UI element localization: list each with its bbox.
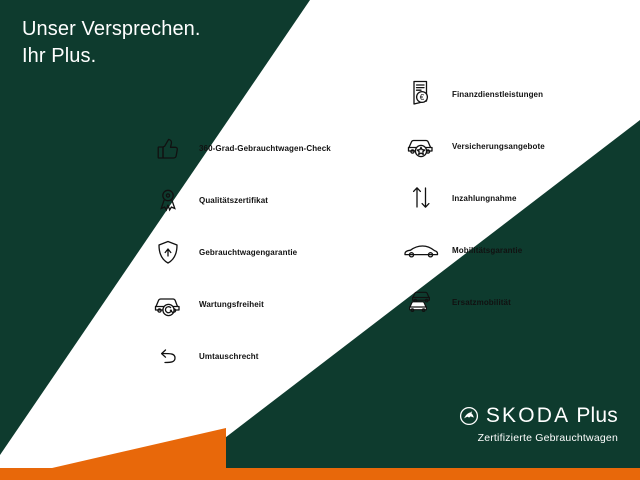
feature-label: 360-Grad-Gebrauchtwagen-Check (199, 144, 331, 153)
headline: Unser Versprechen. Ihr Plus. (22, 16, 201, 70)
orange-corner-shape (0, 428, 226, 480)
thumbs-up-icon (145, 126, 191, 170)
svg-text:€: € (420, 93, 425, 102)
car-star-icon (398, 124, 444, 168)
feature-item: Ersatzmobilität (398, 276, 545, 328)
return-arrow-icon (145, 334, 191, 378)
feature-label: Wartungsfreiheit (199, 300, 264, 309)
feature-label: Finanzdienstleistungen (452, 90, 543, 99)
feature-item: € Finanzdienstleistungen (398, 68, 545, 120)
feature-label: Inzahlungnahme (452, 194, 517, 203)
brand-name: SKODA (486, 405, 571, 426)
feature-item: Umtauschrecht (145, 330, 331, 382)
feature-label: Gebrauchtwagengarantie (199, 248, 297, 257)
brand-lockup: SKODA Plus Zertifizierte Gebrauchtwagen (459, 405, 618, 444)
brand-name-row: SKODA Plus (459, 405, 618, 426)
feature-label: Qualitätszertifikat (199, 196, 268, 205)
car-side-icon (398, 228, 444, 272)
headline-line-1: Unser Versprechen. (22, 16, 201, 43)
feature-item: Wartungsfreiheit (145, 278, 331, 330)
feature-item: Inzahlungnahme (398, 172, 545, 224)
slide: Unser Versprechen. Ihr Plus. 360-Grad-Ge… (0, 0, 640, 480)
feature-item: 360-Grad-Gebrauchtwagen-Check (145, 122, 331, 174)
brand-subtitle: Zertifizierte Gebrauchtwagen (459, 432, 618, 444)
up-down-arrows-icon (398, 176, 444, 220)
shield-icon (145, 230, 191, 274)
document-euro-icon: € (398, 72, 444, 116)
feature-item: Gebrauchtwagengarantie (145, 226, 331, 278)
feature-label: Ersatzmobilität (452, 298, 511, 307)
feature-item: Qualitätszertifikat (145, 174, 331, 226)
headline-line-2: Ihr Plus. (22, 43, 201, 70)
brand-plus: Plus (576, 405, 618, 426)
feature-list-right: € Finanzdienstleistungen Versicherungsan… (398, 68, 545, 328)
skoda-winged-arrow-icon (459, 406, 479, 426)
feature-item: Versicherungsangebote (398, 120, 545, 172)
feature-label: Umtauschrecht (199, 352, 259, 361)
feature-label: Versicherungsangebote (452, 142, 545, 151)
car-wrench-icon (145, 282, 191, 326)
two-cars-icon (398, 280, 444, 324)
feature-item: Mobilitätsgarantie (398, 224, 545, 276)
feature-label: Mobilitätsgarantie (452, 246, 522, 255)
award-medal-icon (145, 178, 191, 222)
feature-list-left: 360-Grad-Gebrauchtwagen-Check Qualitätsz… (145, 122, 331, 382)
